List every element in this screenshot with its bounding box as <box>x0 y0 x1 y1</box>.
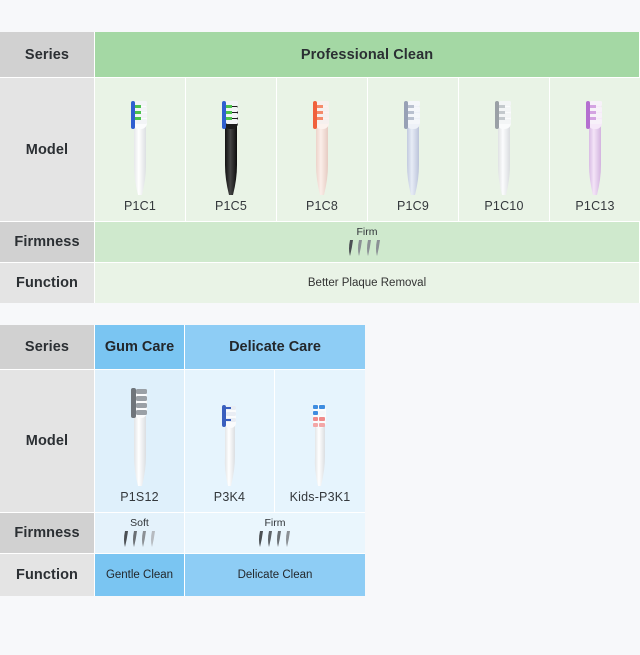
toothbrush-icon-p3k4 <box>201 378 259 490</box>
toothbrush-icon-p1s12 <box>111 378 169 490</box>
table-row-firmness-2: Firmness Soft Firm <box>0 513 365 554</box>
model-cell-p1s12[interactable]: P1S12 <box>95 370 185 513</box>
row-label-series: Series <box>0 32 95 78</box>
model-name-p1c10: P1C10 <box>484 199 523 213</box>
model-name-p1c5: P1C5 <box>215 199 247 213</box>
model-cell-p1c1[interactable]: P1C1 <box>95 78 186 222</box>
model-name-p1c9: P1C9 <box>397 199 429 213</box>
table-row-model: Model <box>0 78 640 222</box>
model-name-p1c8: P1C8 <box>306 199 338 213</box>
model-cell-p1c5[interactable]: P1C5 <box>186 78 277 222</box>
toothbrush-icon-kids-p3k1 <box>291 378 349 490</box>
function-cell-delicate-clean: Delicate Clean <box>185 554 365 596</box>
toothbrush-icon-p1c1 <box>111 87 169 199</box>
comparison-page: Series Professional Clean Model <box>0 0 640 655</box>
function-cell-gentle-clean: Gentle Clean <box>95 554 185 596</box>
firmness-cell-soft: Soft <box>95 513 185 554</box>
row-label-model: Model <box>0 78 95 222</box>
series-cell-gum-care: Gum Care <box>95 325 185 370</box>
table-row-series-2: Series Gum Care Delicate Care <box>0 325 365 370</box>
table-row-firmness: Firmness Firm <box>0 222 640 263</box>
table-row-model-2: Model <box>0 370 365 513</box>
firmness-label: Firm <box>357 227 378 238</box>
model-name-kids-p3k1: Kids-P3K1 <box>290 490 351 504</box>
firmness-bristles-icon <box>345 239 389 257</box>
model-cell-p1c13[interactable]: P1C13 <box>550 78 640 222</box>
toothbrush-icon-p1c10 <box>475 87 533 199</box>
row-label-series-2: Series <box>0 325 95 370</box>
toothbrush-icon-p1c5 <box>202 87 260 199</box>
firmness-label-firm-2: Firm <box>265 518 286 529</box>
firmness-cell-firm: Firm <box>95 222 640 263</box>
function-cell-better-plaque-removal: Better Plaque Removal <box>95 263 640 303</box>
firmness-label-soft: Soft <box>130 518 149 529</box>
model-name-p1s12: P1S12 <box>120 490 159 504</box>
series-cell-professional-clean: Professional Clean <box>95 32 640 78</box>
row-label-function-2: Function <box>0 554 95 596</box>
table-row-function: Function Better Plaque Removal <box>0 263 640 303</box>
row-label-model-2: Model <box>0 370 95 513</box>
row-label-firmness-2: Firmness <box>0 513 95 554</box>
toothbrush-icon-p1c13 <box>566 87 624 199</box>
model-cell-p1c9[interactable]: P1C9 <box>368 78 459 222</box>
gum-delicate-care-table: Series Gum Care Delicate Care Model <box>0 325 365 596</box>
model-cell-p1c8[interactable]: P1C8 <box>277 78 368 222</box>
model-cell-kids-p3k1[interactable]: Kids-P3K1 <box>275 370 365 513</box>
professional-clean-table: Series Professional Clean Model <box>0 32 640 303</box>
toothbrush-icon-p1c9 <box>384 87 442 199</box>
series-cell-delicate-care: Delicate Care <box>185 325 365 370</box>
model-cell-p3k4[interactable]: P3K4 <box>185 370 275 513</box>
toothbrush-icon-p1c8 <box>293 87 351 199</box>
model-name-p1c13: P1C13 <box>575 199 614 213</box>
model-name-p3k4: P3K4 <box>214 490 245 504</box>
model-name-p1c1: P1C1 <box>124 199 156 213</box>
row-label-firmness: Firmness <box>0 222 95 263</box>
firmness-bristles-icon-firm-2 <box>253 530 297 548</box>
row-label-function: Function <box>0 263 95 303</box>
table-row-series: Series Professional Clean <box>0 32 640 78</box>
firmness-bristles-icon-soft <box>118 530 162 548</box>
model-cell-p1c10[interactable]: P1C10 <box>459 78 550 222</box>
firmness-cell-firm-2: Firm <box>185 513 365 554</box>
table-row-function-2: Function Gentle Clean Delicate Clean <box>0 554 365 596</box>
